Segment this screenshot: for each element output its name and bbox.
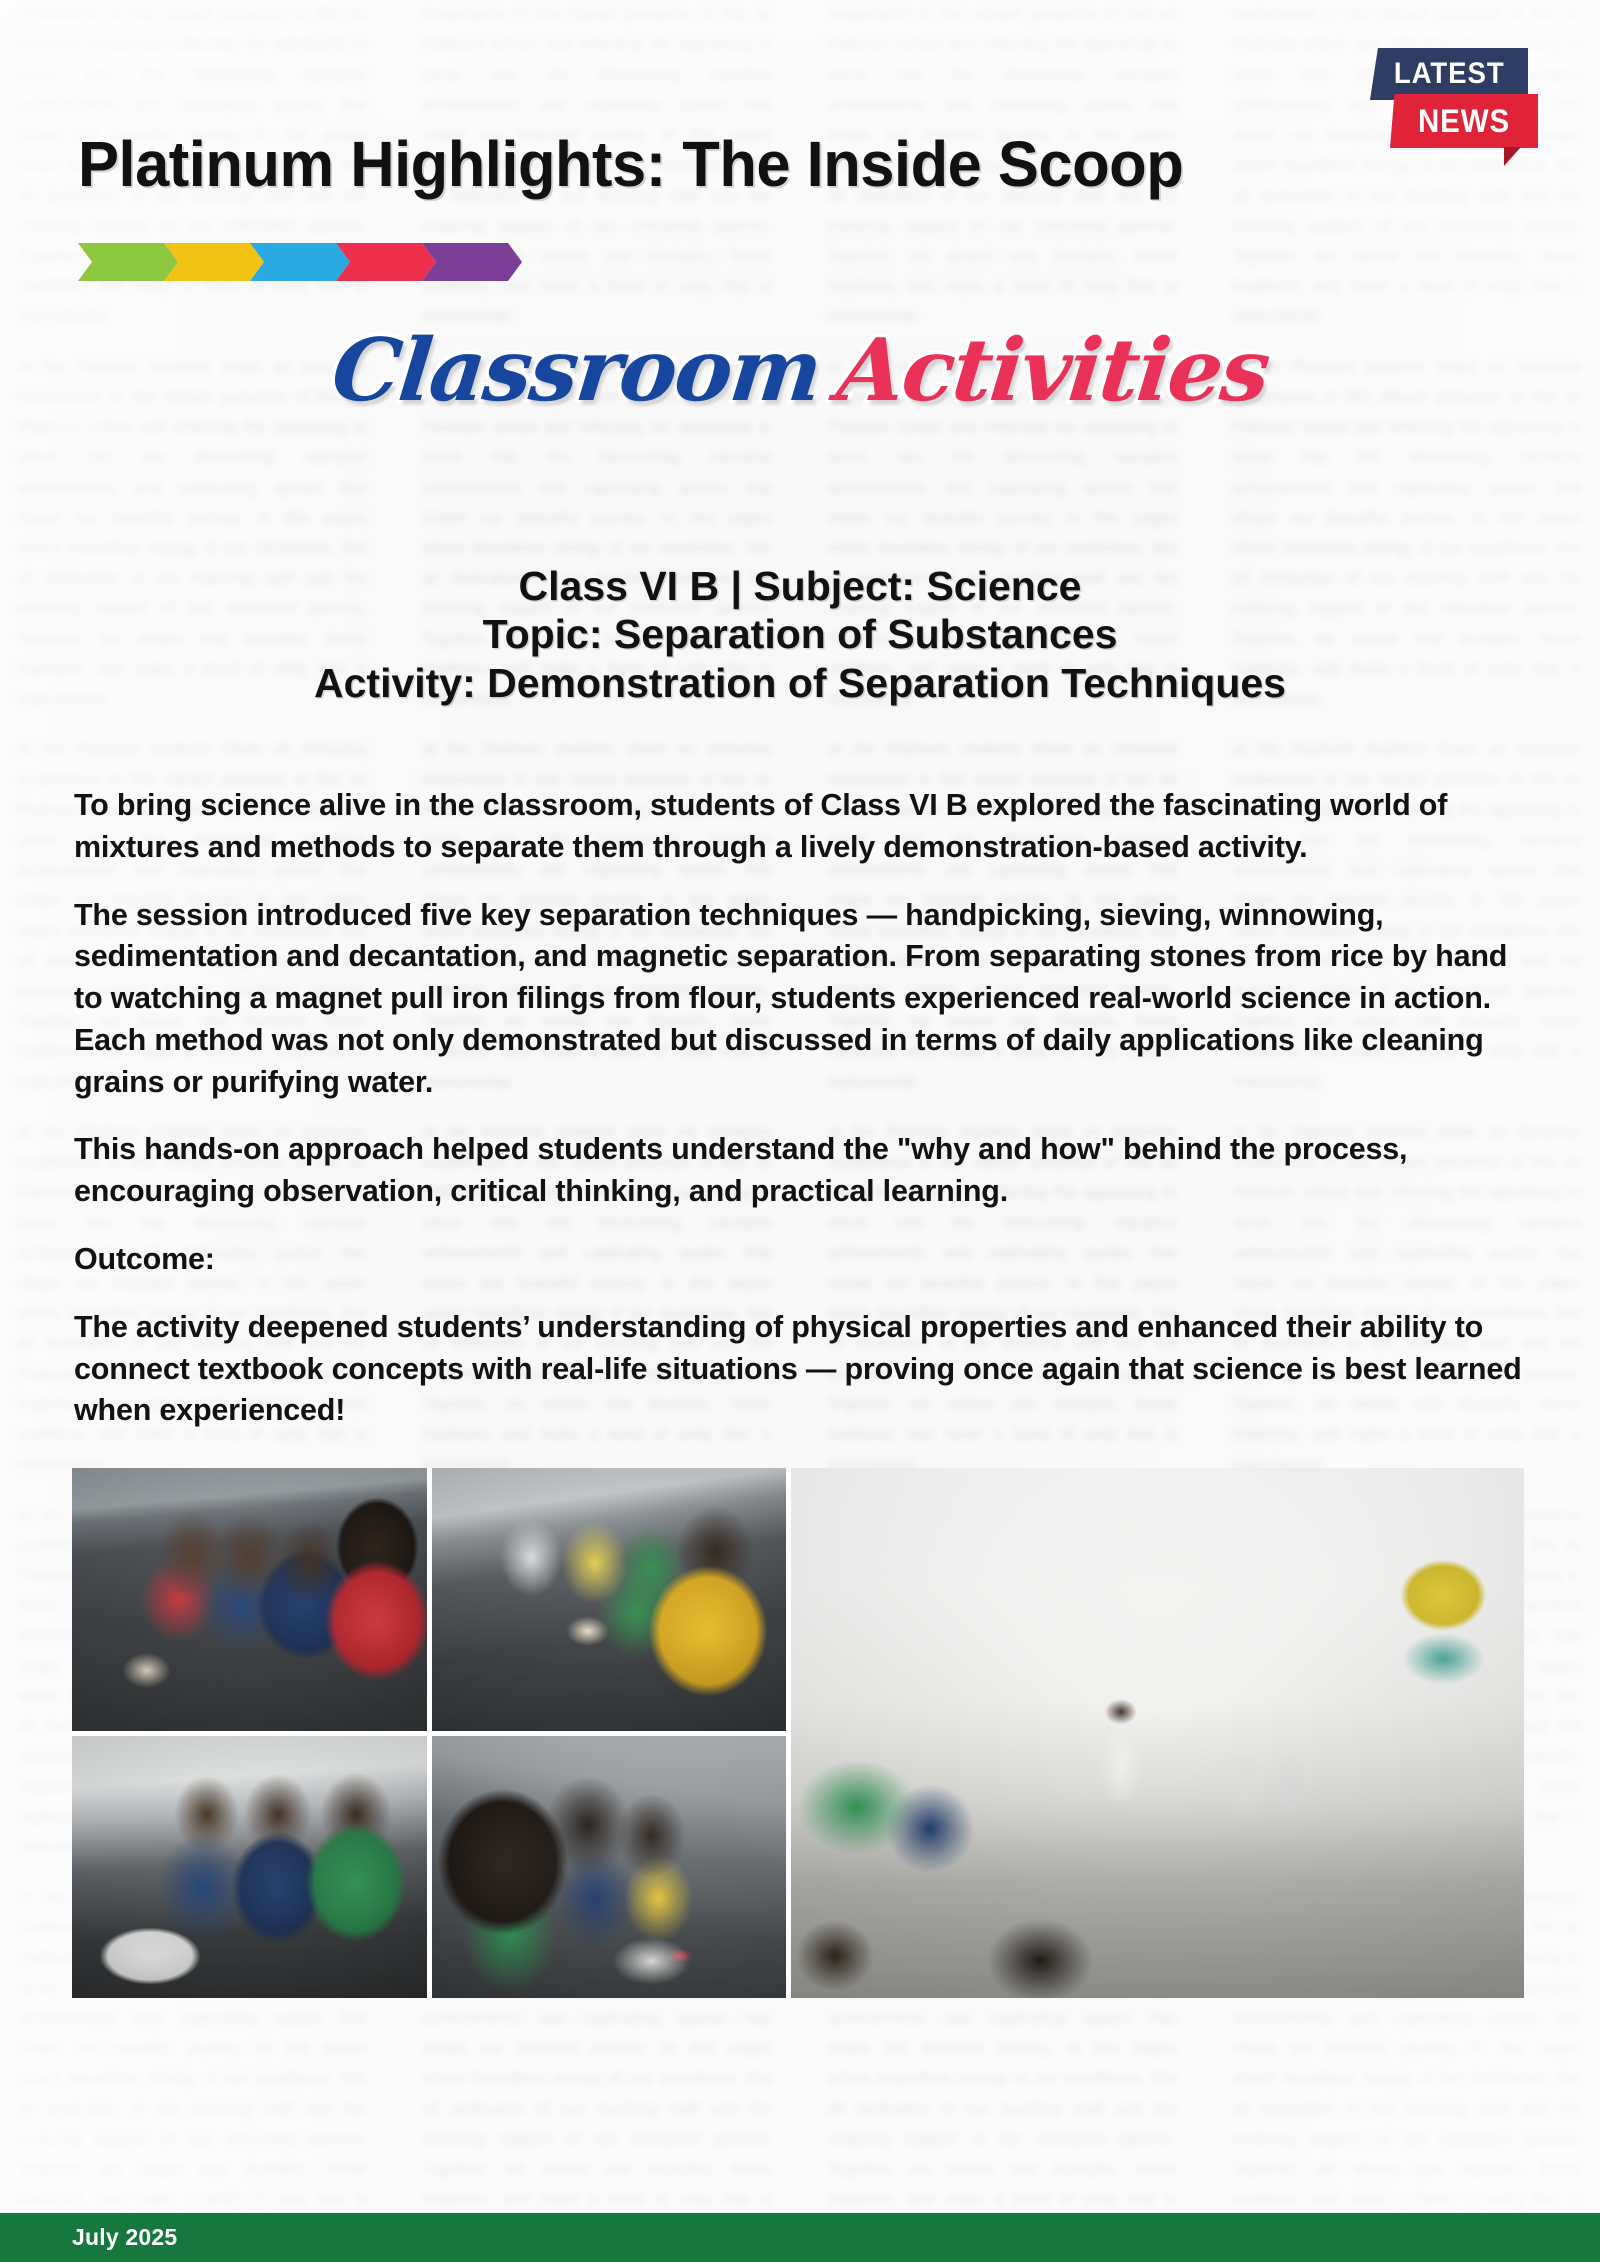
photo-boys-magnetic-separation <box>432 1736 787 1999</box>
logo-word-classroom: Classroom <box>328 320 825 421</box>
photo-collage <box>72 1468 1524 1998</box>
latest-label: LATEST <box>1394 57 1505 91</box>
collage-right-cell <box>791 1468 1524 1998</box>
paragraph-approach: This hands-on approach helped students u… <box>74 1129 1524 1213</box>
latest-news-top-banner: LATEST <box>1370 48 1528 100</box>
newsletter-page: at the Platinum students share an immens… <box>0 0 1600 2262</box>
page-title: Platinum Highlights: The Inside Scoop <box>78 132 1183 196</box>
paragraph-intro: To bring science alive in the classroom,… <box>74 785 1524 869</box>
chevron-divider <box>78 243 508 281</box>
chevron-blue-icon <box>250 243 350 281</box>
news-label: NEWS <box>1418 103 1510 140</box>
logo-word-activities: Activities <box>832 320 1272 421</box>
photo-classroom-wide-view <box>791 1468 1524 1998</box>
chevron-purple-icon <box>422 243 522 281</box>
photo-students-observing-rice-sample <box>72 1468 427 1731</box>
latest-news-bottom-banner: NEWS <box>1390 94 1538 148</box>
footer-date: July 2025 <box>72 2224 177 2251</box>
paragraph-outcome: The activity deepened students’ understa… <box>74 1307 1524 1432</box>
page-content: LATEST NEWS Platinum Highlights: The Ins… <box>0 0 1600 2262</box>
photo-students-sieving-on-paper <box>72 1736 427 1999</box>
footer-bar: July 2025 <box>0 2213 1600 2262</box>
chevron-yellow-icon <box>164 243 264 281</box>
chevron-red-icon <box>336 243 436 281</box>
ribbon-tail-icon <box>1504 147 1521 166</box>
heading-class-subject: Class VI B | Subject: Science <box>0 562 1600 610</box>
classroom-activities-logo: ClassroomActivities <box>0 320 1600 421</box>
collage-left-grid <box>72 1468 786 1998</box>
article-body: To bring science alive in the classroom,… <box>74 785 1524 1458</box>
heading-activity: Activity: Demonstration of Separation Te… <box>0 659 1600 707</box>
paragraph-techniques: The session introduced five key separati… <box>74 895 1524 1104</box>
photo-students-handling-sample <box>432 1468 787 1731</box>
chevron-green-icon <box>78 243 178 281</box>
activity-headings: Class VI B | Subject: Science Topic: Sep… <box>0 562 1600 707</box>
heading-topic: Topic: Separation of Substances <box>0 610 1600 658</box>
latest-news-badge: LATEST NEWS <box>1370 48 1538 166</box>
outcome-label: Outcome: <box>74 1239 1524 1281</box>
